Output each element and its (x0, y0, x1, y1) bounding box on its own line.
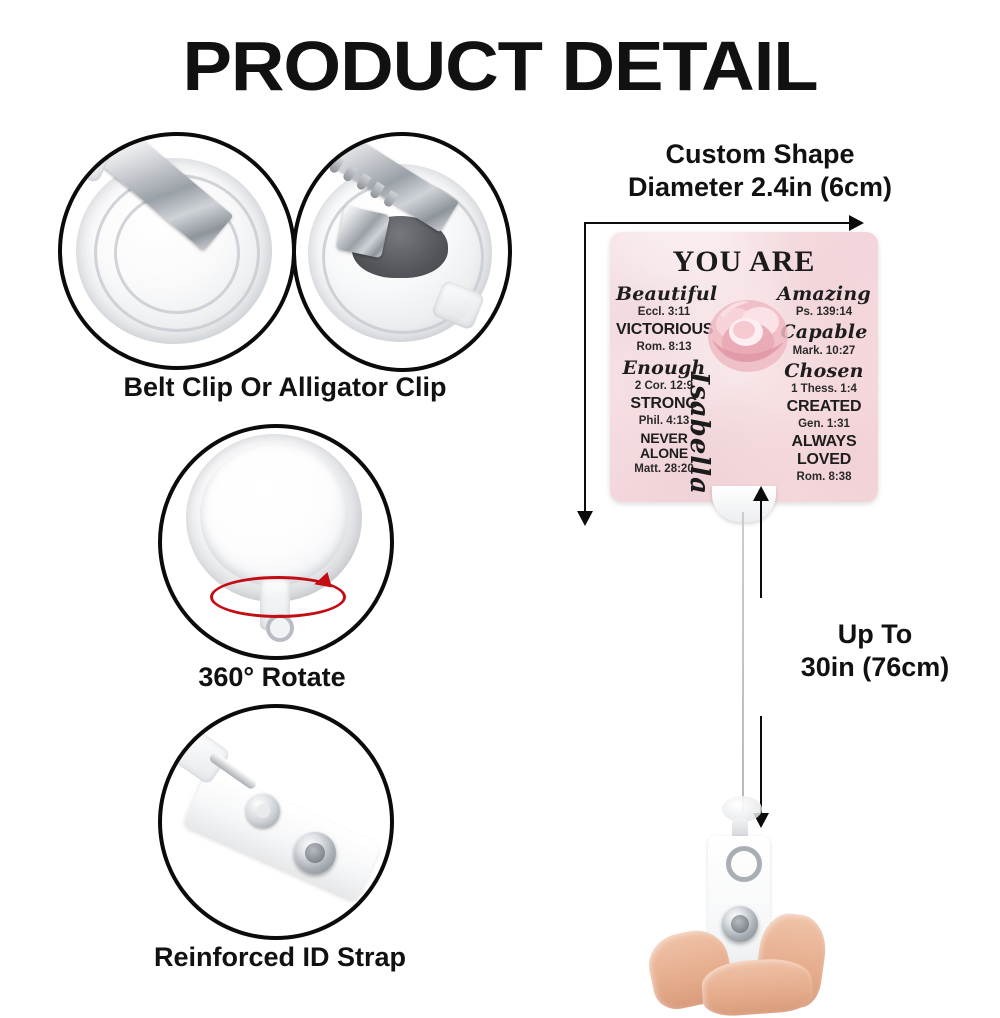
affirmation-verse: Gen. 1:31 (776, 416, 872, 433)
affirmation-item: Amazing Ps. 139:14 (776, 284, 872, 321)
affirmation-verse: Rom. 8:38 (776, 469, 872, 486)
affirmation-item: VICTORIOUS Rom. 8:13 (616, 322, 712, 356)
alligator-clip-photo (292, 132, 512, 372)
affirmation-word: CREATED (776, 399, 872, 416)
id-strap-image (162, 708, 390, 936)
card-title: YOU ARE (610, 245, 878, 279)
affirmation-item: Capable Mark. 10:27 (776, 322, 872, 359)
clip-tooth (382, 190, 398, 208)
caption-rotate: 360° Rotate (158, 662, 386, 693)
clip-tooth (355, 173, 371, 191)
affirmation-verse: Eccl. 3:11 (616, 304, 712, 321)
custom-name: Isabella (684, 372, 714, 502)
affirmation-word: LOVED (776, 452, 872, 469)
affirmation-word: Capable (776, 322, 872, 342)
affirmation-item: Chosen 1 Thess. 1:4 (776, 361, 872, 398)
custom-shape-line2: Diameter 2.4in (6cm) (560, 171, 960, 204)
alligator-clip-image (296, 136, 508, 368)
length-line1: Up To (770, 618, 980, 651)
reinforced-grommet (246, 794, 280, 828)
affirmation-word: Amazing (776, 284, 872, 304)
belt-clip-image (62, 136, 292, 366)
clip-tooth (328, 156, 344, 174)
product-detail-infographic: PRODUCT DETAIL Bel (0, 0, 1000, 1000)
rotate-photo (158, 424, 394, 660)
affirmation-item: CREATED Gen. 1:31 (776, 399, 872, 433)
caption-belt-clip: Belt Clip Or Alligator Clip (60, 372, 510, 403)
caption-id-strap: Reinforced ID Strap (120, 942, 440, 973)
affirmation-item: LOVED Rom. 8:38 (776, 452, 872, 486)
affirmation-verse: Rom. 8:13 (616, 339, 712, 356)
retractable-cord (742, 512, 744, 812)
length-dimension-arrow-bottom (760, 716, 762, 814)
reel-face (200, 444, 348, 586)
peony-flower-icon (706, 290, 790, 380)
badge-reel-card: YOU ARE Beautiful Eccl. 3:11 VICTORIOUS … (610, 232, 878, 502)
swivel-ring (266, 614, 294, 642)
height-dimension-arrow (584, 222, 586, 512)
affirmation-word: Beautiful (616, 284, 712, 304)
affirmation-verse: Ps. 139:14 (776, 304, 872, 321)
clip-tooth (342, 165, 358, 183)
vinyl-strap (183, 768, 382, 902)
rotate-image (162, 428, 390, 656)
strap-ring (726, 846, 762, 882)
custom-shape-label: Custom Shape Diameter 2.4in (6cm) (560, 138, 960, 204)
affirmation-item: ALWAYS (776, 434, 872, 451)
length-label: Up To 30in (76cm) (770, 618, 980, 684)
page-title: PRODUCT DETAIL (0, 26, 1000, 106)
affirmation-verse: 1 Thess. 1:4 (776, 381, 872, 398)
length-dimension-arrow-top (760, 500, 762, 598)
clip-tooth (369, 181, 385, 199)
hand-holding-strap (640, 906, 870, 1002)
swivel-connector (62, 136, 114, 184)
custom-shape-line1: Custom Shape (560, 138, 960, 171)
affirmation-word: ALWAYS (776, 434, 872, 451)
snap-button (294, 832, 336, 874)
alligator-clip-base (336, 206, 390, 259)
length-line2: 30in (76cm) (770, 651, 980, 684)
card-right-column: Amazing Ps. 139:14 Capable Mark. 10:27 C… (776, 284, 872, 487)
id-strap-photo (158, 704, 394, 940)
belt-clip-photo (58, 132, 296, 370)
affirmation-item: Beautiful Eccl. 3:11 (616, 284, 712, 321)
width-dimension-arrow (584, 222, 850, 224)
affirmation-verse: Mark. 10:27 (776, 343, 872, 360)
affirmation-word: Chosen (776, 361, 872, 381)
affirmation-word: VICTORIOUS (616, 322, 712, 339)
